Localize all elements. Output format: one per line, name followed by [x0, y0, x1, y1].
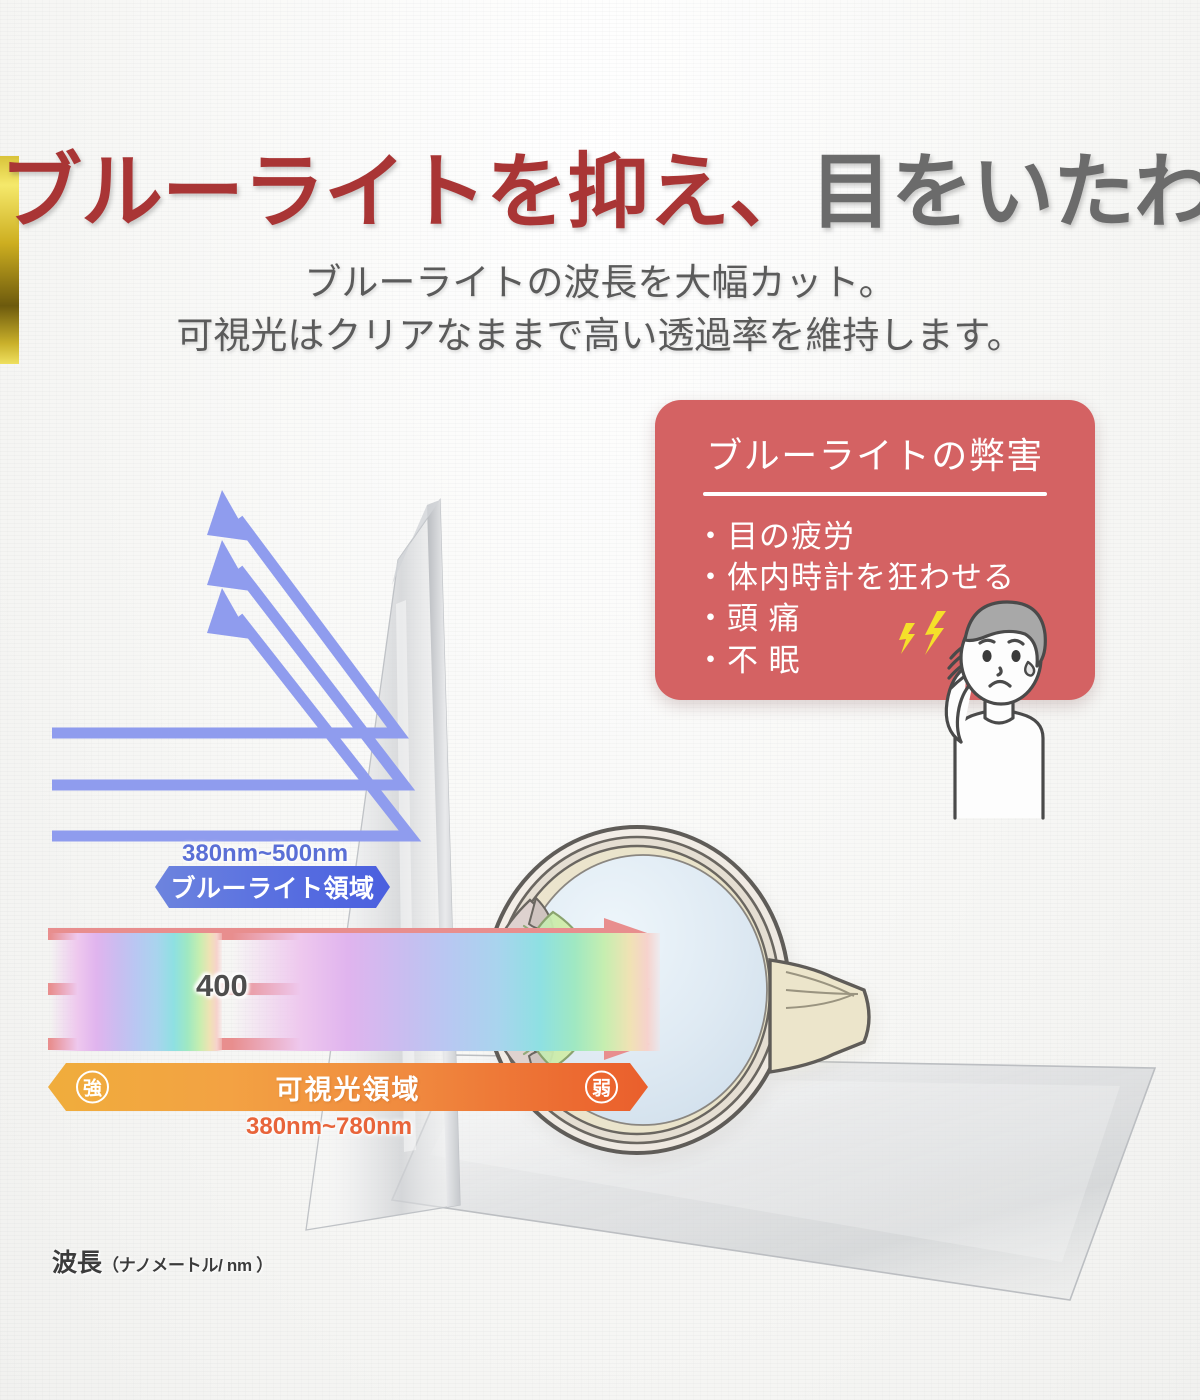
wavelength-tick-400: 400: [196, 968, 248, 1004]
list-item: 目の疲労: [695, 516, 1095, 557]
visible-light-range-label: 380nm~780nm: [246, 1113, 412, 1141]
lightning-bolt-icon: [899, 611, 946, 655]
blue-light-band-wrapper: ブルーライト領域: [155, 866, 390, 908]
visible-light-band-label: 可視光領域: [276, 1068, 421, 1107]
blue-light-band-label: ブルーライト領域: [170, 869, 374, 905]
blue-light-band: ブルーライト領域: [155, 866, 390, 908]
person-svg: [895, 592, 1095, 827]
visible-light-band: 強 可視光領域 弱: [48, 1063, 648, 1111]
strength-badge-weak: 弱: [585, 1071, 618, 1104]
spectrum-band-right: [232, 933, 660, 1051]
blue-light-range-label: 380nm~500nm: [182, 840, 348, 868]
axis-caption-label: 波長: [52, 1249, 102, 1277]
axis-caption-unit: （ナノメートル/ nm ）: [102, 1256, 273, 1275]
axis-caption: 波長（ナノメートル/ nm ）: [52, 1243, 273, 1279]
headache-person-illustration: [895, 592, 1095, 832]
harm-card-title: ブルーライトの弊害: [655, 400, 1095, 479]
strength-badge-strong: 強: [76, 1071, 109, 1104]
harm-card-divider: [703, 492, 1047, 496]
